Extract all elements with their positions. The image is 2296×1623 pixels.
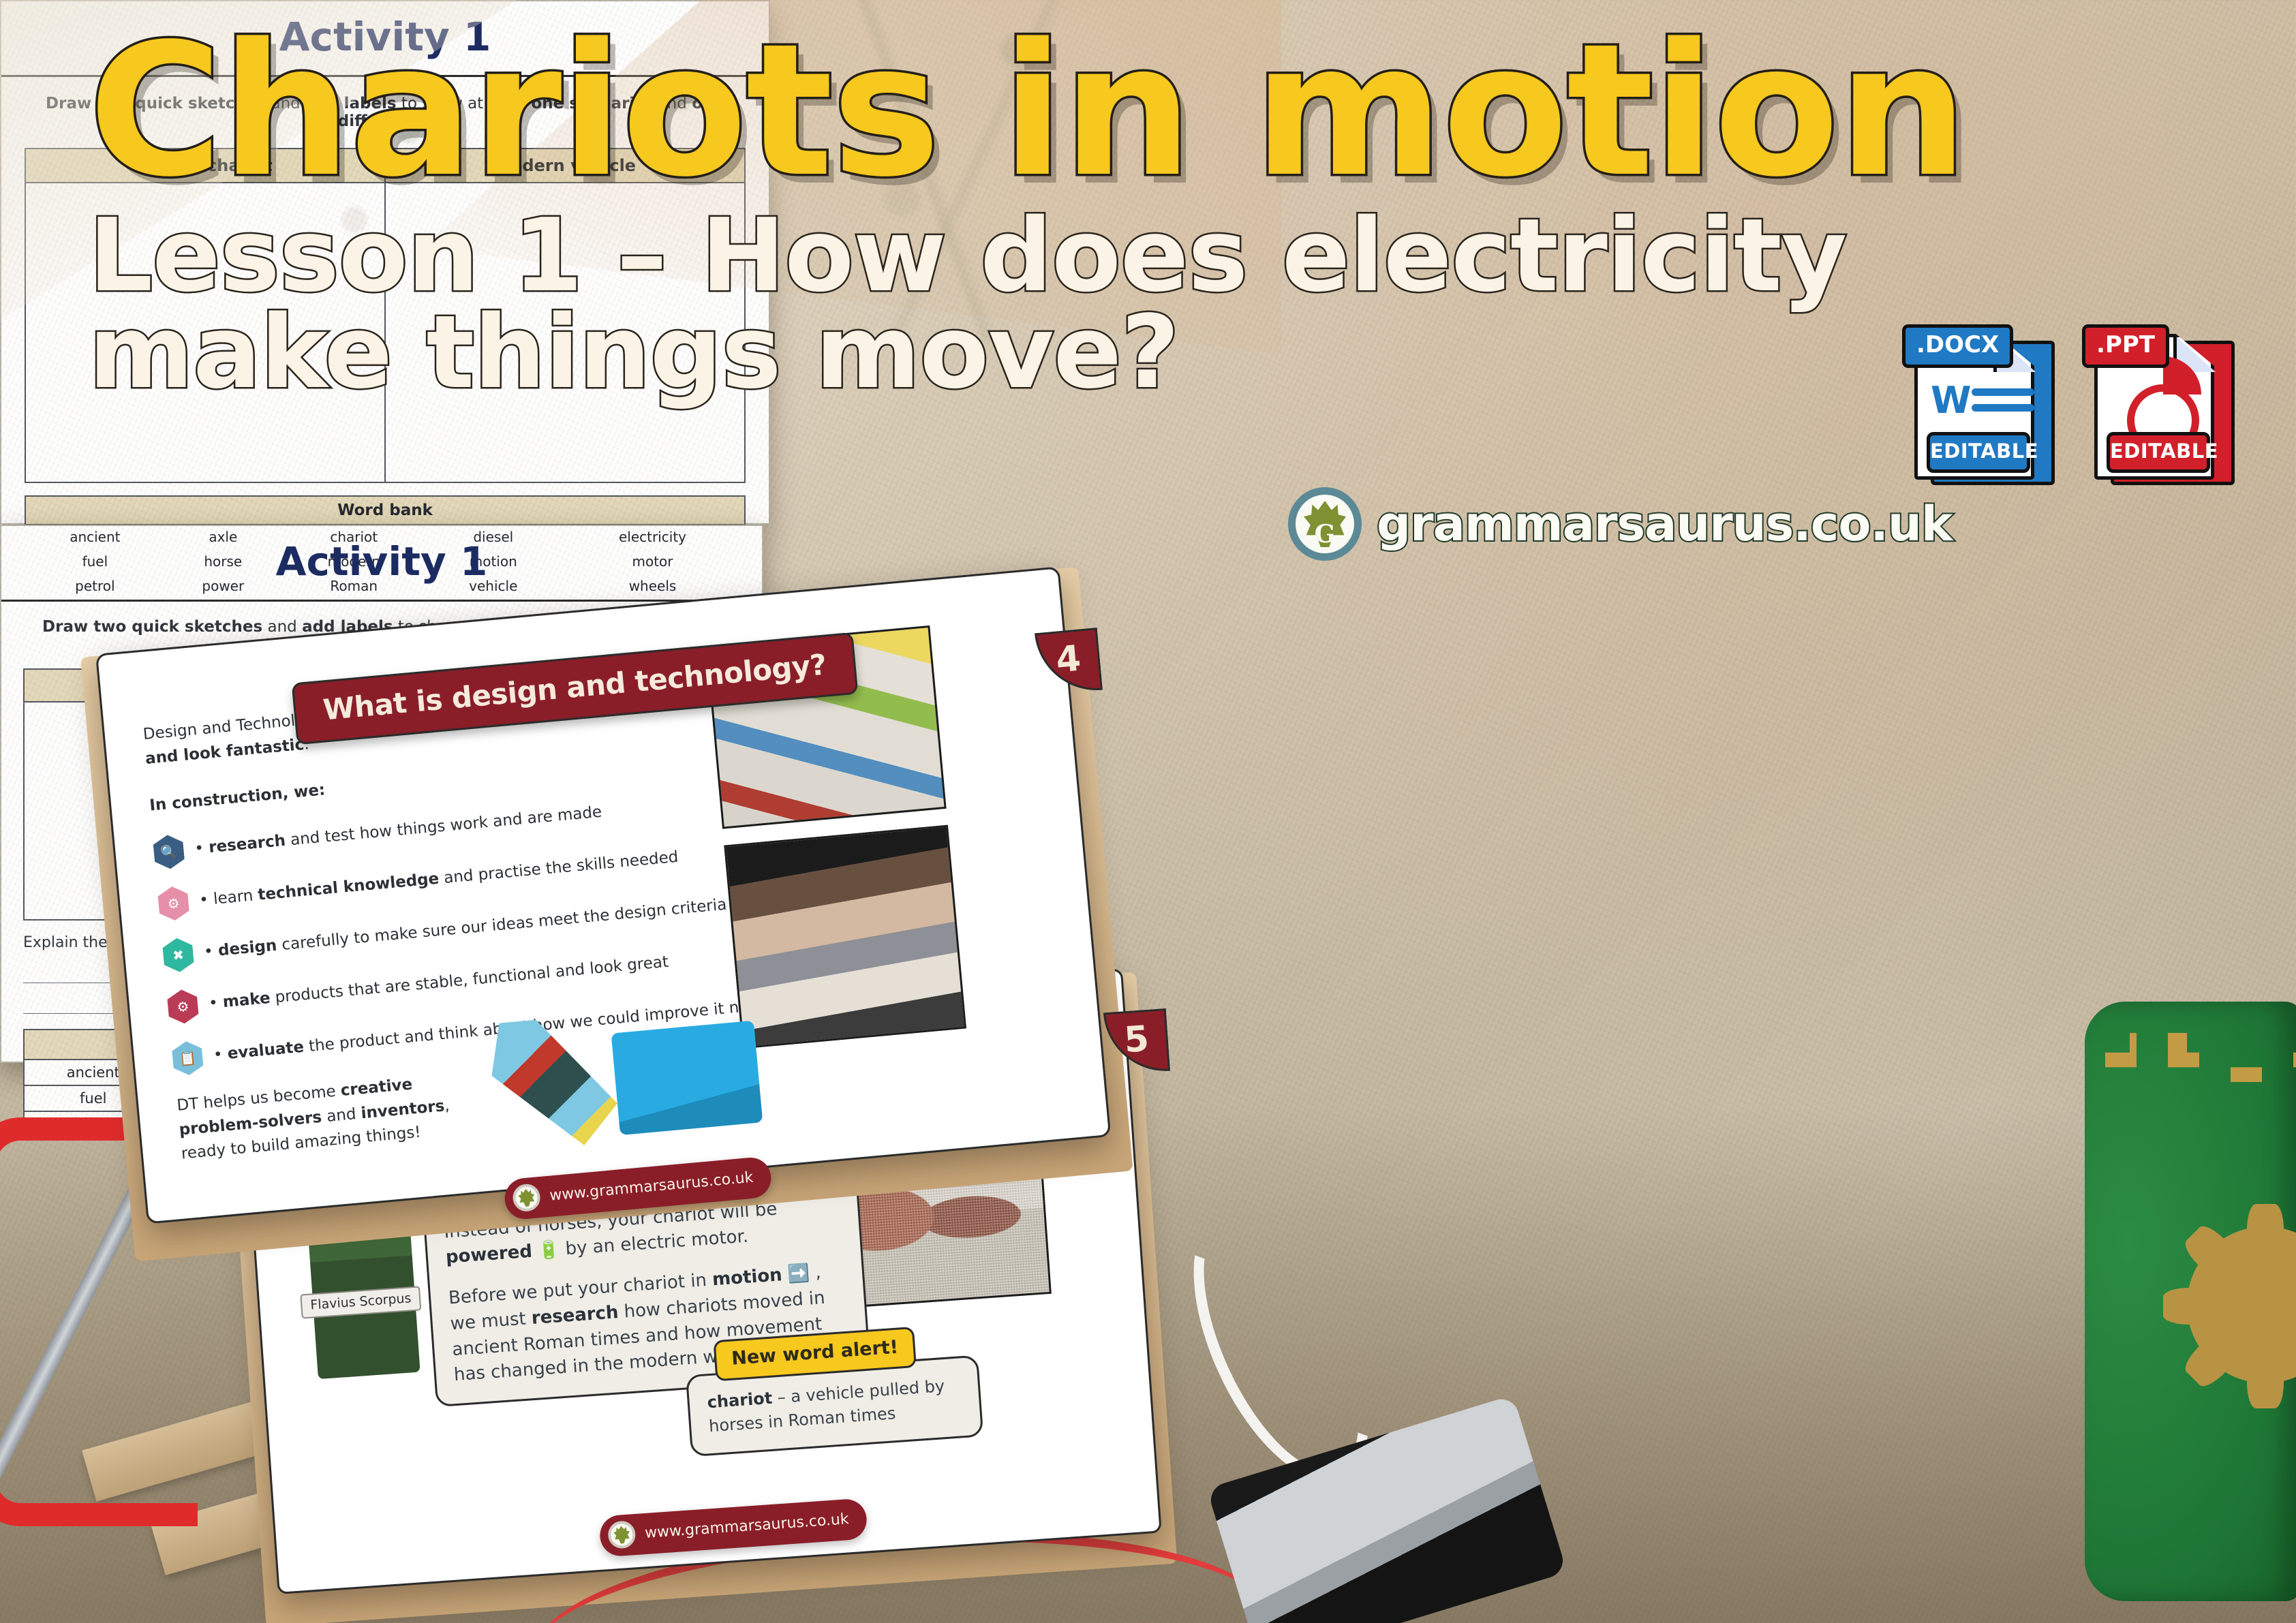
brand-logo[interactable]: grammarsaurus.co.uk — [1288, 487, 1952, 561]
bullet-text: and practise the skills needed — [438, 848, 679, 888]
cog-robot-icon: ⚙ — [166, 989, 199, 1025]
closing-part-2: and — [321, 1104, 362, 1126]
page-title: Chariots in motion — [89, 27, 1942, 196]
slide4-lead-in-text: In construction, we: — [149, 782, 326, 815]
text-lines-icon — [1972, 388, 2034, 420]
page-subtitle: Lesson 1 – How does electricity make thi… — [89, 205, 1942, 403]
head-gear-icon: ⚙ — [157, 885, 189, 922]
bullet-keyword: design — [217, 937, 277, 960]
clipboard-check-icon: 📋 — [171, 1040, 204, 1077]
brand-name: grammarsaurus.co.uk — [1377, 496, 1952, 552]
greek-key-pattern — [2105, 1033, 2296, 1082]
blueprint-compass-clipart — [611, 1021, 763, 1135]
bullet-text: products that are stable, functional and… — [269, 953, 669, 1007]
ppt-extension-label: .PPT — [2082, 324, 2169, 368]
dinosaur-logo-icon — [607, 1520, 637, 1549]
file-format-badges: W .DOCX EDITABLE .PPT EDITABLE — [1906, 320, 2236, 484]
pencil-cross-icon: ✖ — [162, 937, 194, 974]
title-block: Chariots in motion Lesson 1 – How does e… — [89, 27, 1942, 403]
bullet-keyword: make — [222, 989, 271, 1011]
dinosaur-logo-icon — [512, 1183, 541, 1212]
footer-url-text: www.grammarsaurus.co.uk — [549, 1169, 754, 1204]
subtitle-line-2: make things move? — [89, 302, 1942, 403]
bullet-text: and test how things work and are made — [285, 803, 602, 850]
docx-editable-label: EDITABLE — [1927, 432, 2030, 473]
docx-extension-label: .DOCX — [1902, 324, 2013, 368]
bullet-prefix: learn — [213, 886, 259, 908]
bullet-keyword: evaluate — [227, 1038, 305, 1063]
ppt-editable-label: EDITABLE — [2107, 432, 2210, 473]
slide4-closing: DT helps us become creative problem-solv… — [176, 1068, 468, 1167]
docx-badge[interactable]: W .DOCX EDITABLE — [1906, 320, 2056, 484]
magnifier-chart-icon: 🔍 — [153, 833, 185, 870]
ppt-badge[interactable]: .PPT EDITABLE — [2086, 320, 2236, 484]
footer-url-text: www.grammarsaurus.co.uk — [644, 1511, 849, 1542]
word-document-icon: W — [1931, 386, 1972, 415]
roman-shield-prop — [2085, 1002, 2296, 1601]
workshop-hands-photo — [724, 825, 966, 1049]
bullet-keyword: research — [208, 832, 286, 856]
new-word-term: chariot — [707, 1389, 773, 1412]
bullet-keyword: technical knowledge — [257, 870, 440, 904]
closing-bold-2: inventors — [360, 1097, 445, 1122]
dinosaur-logo-icon — [1288, 487, 1362, 561]
